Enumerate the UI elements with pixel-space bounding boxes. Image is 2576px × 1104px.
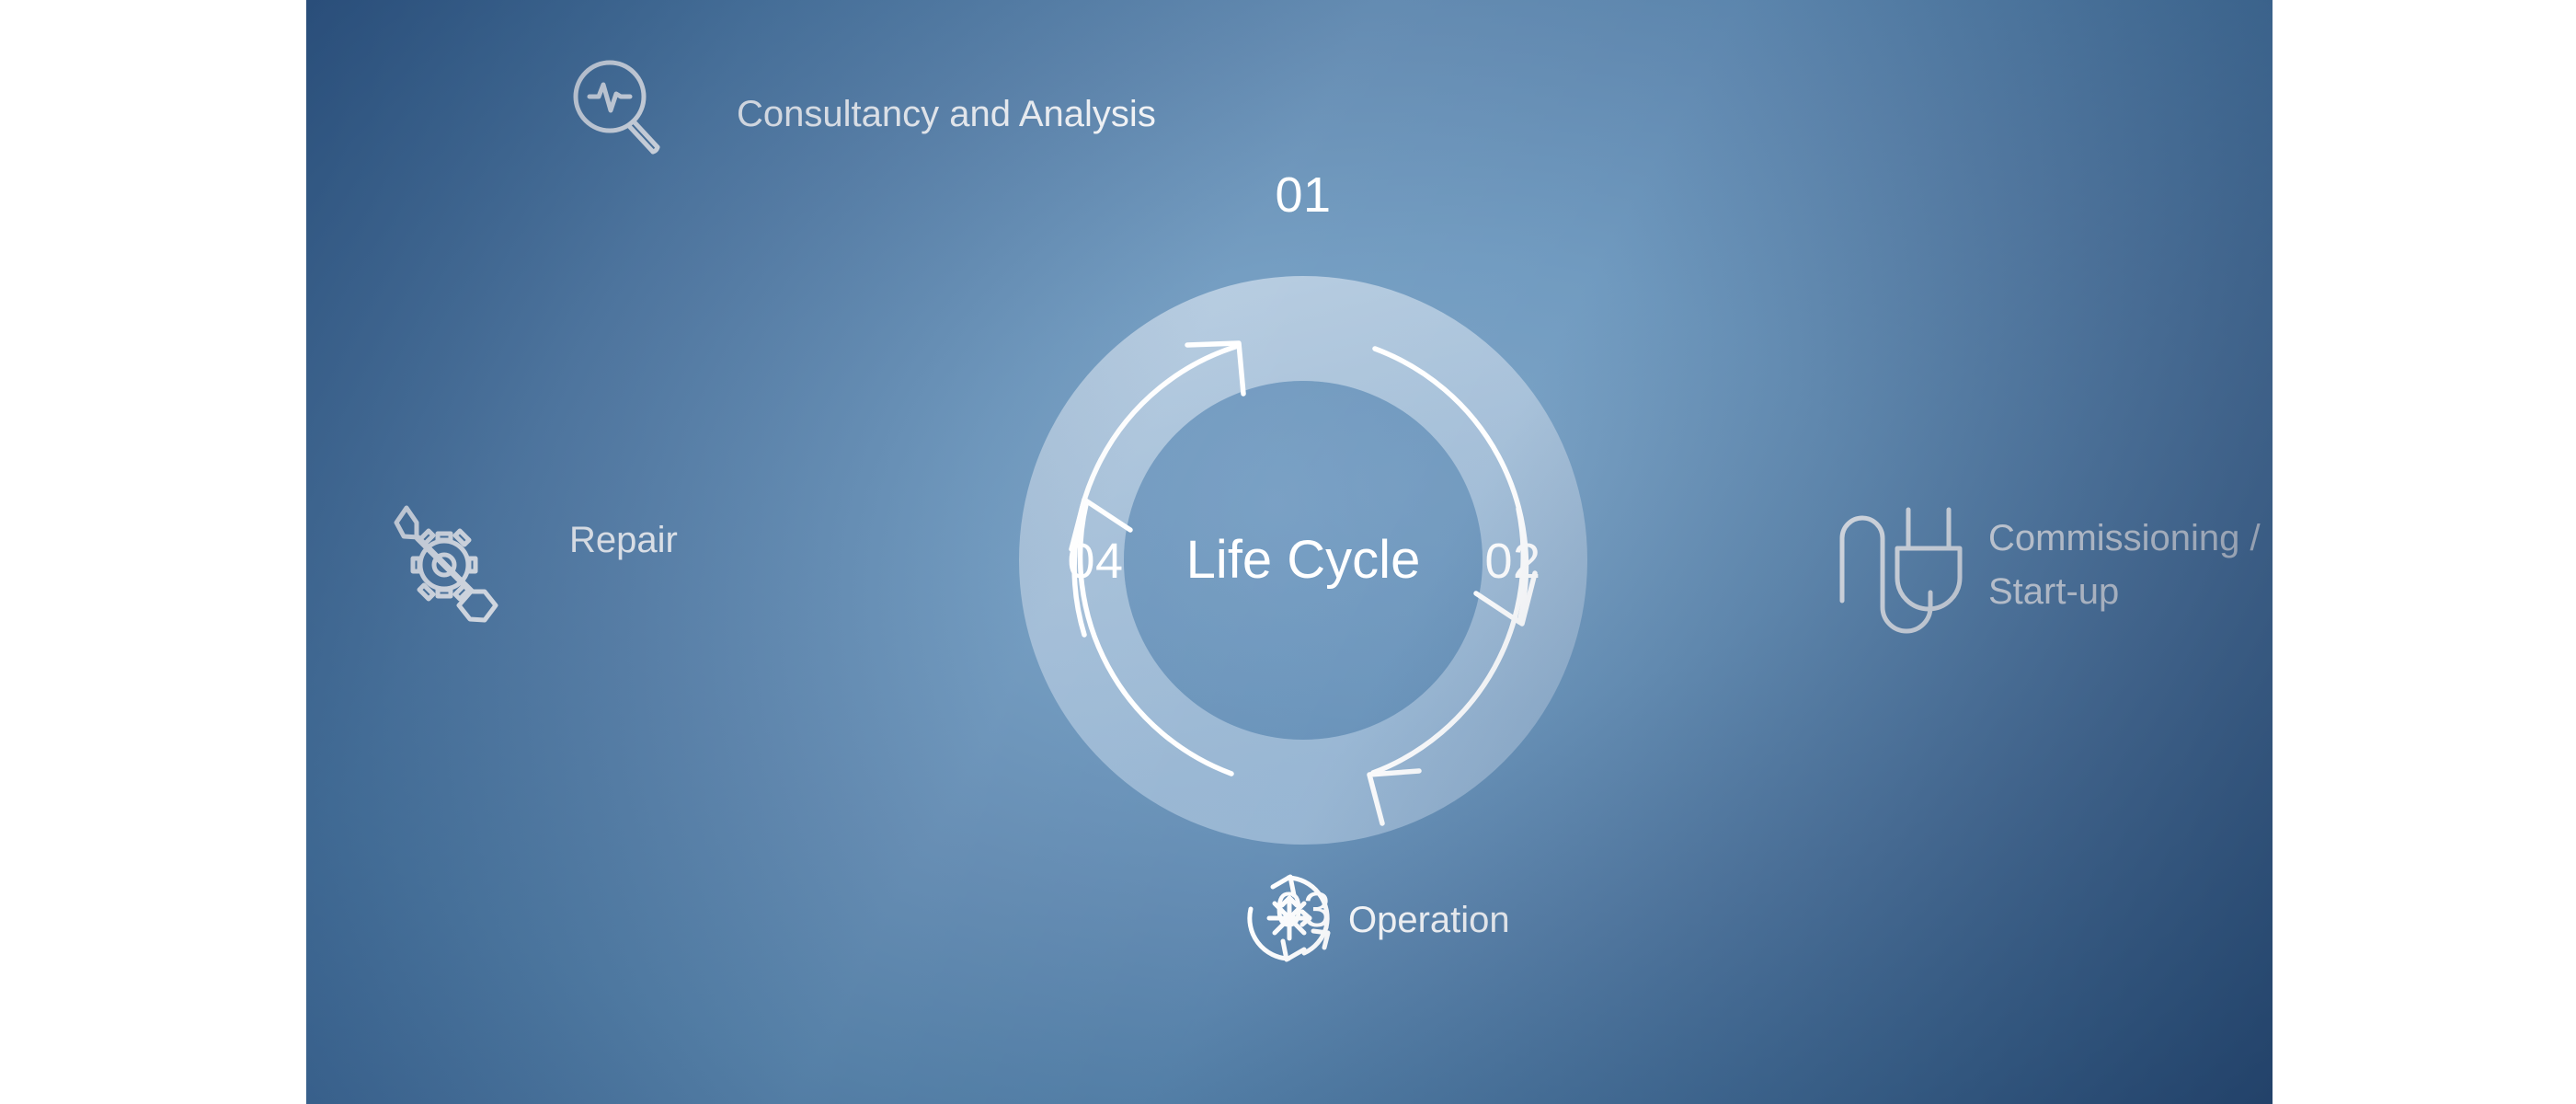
node-label-operation: Operation — [1348, 900, 1510, 940]
slide-artwork: Life Cycle 01 02 03 04 — [306, 0, 2273, 1104]
node-consultancy-and-analysis[interactable]: Consultancy and Analysis — [576, 63, 1156, 152]
node-repair[interactable]: Repair — [396, 508, 678, 620]
magnifier-pulse-icon — [576, 63, 658, 152]
center-title: Life Cycle — [1186, 530, 1421, 590]
node-label-repair: Repair — [569, 520, 678, 560]
power-plug-icon — [1842, 510, 1960, 631]
node-commissioning-startup[interactable]: Commissioning / Start-up — [1842, 510, 2261, 631]
slide-canvas: Life Cycle 01 02 03 04 — [0, 0, 2576, 1104]
node-label-commissioning-line2: Start-up — [1988, 571, 2119, 612]
node-label-commissioning-line1: Commissioning / — [1988, 518, 2261, 558]
ring-number-01: 01 — [1275, 167, 1331, 223]
node-label-consultancy: Consultancy and Analysis — [737, 94, 1156, 134]
wrench-gear-icon — [396, 508, 496, 620]
life-cycle-diagram: Life Cycle 01 02 03 04 — [306, 0, 2273, 1104]
